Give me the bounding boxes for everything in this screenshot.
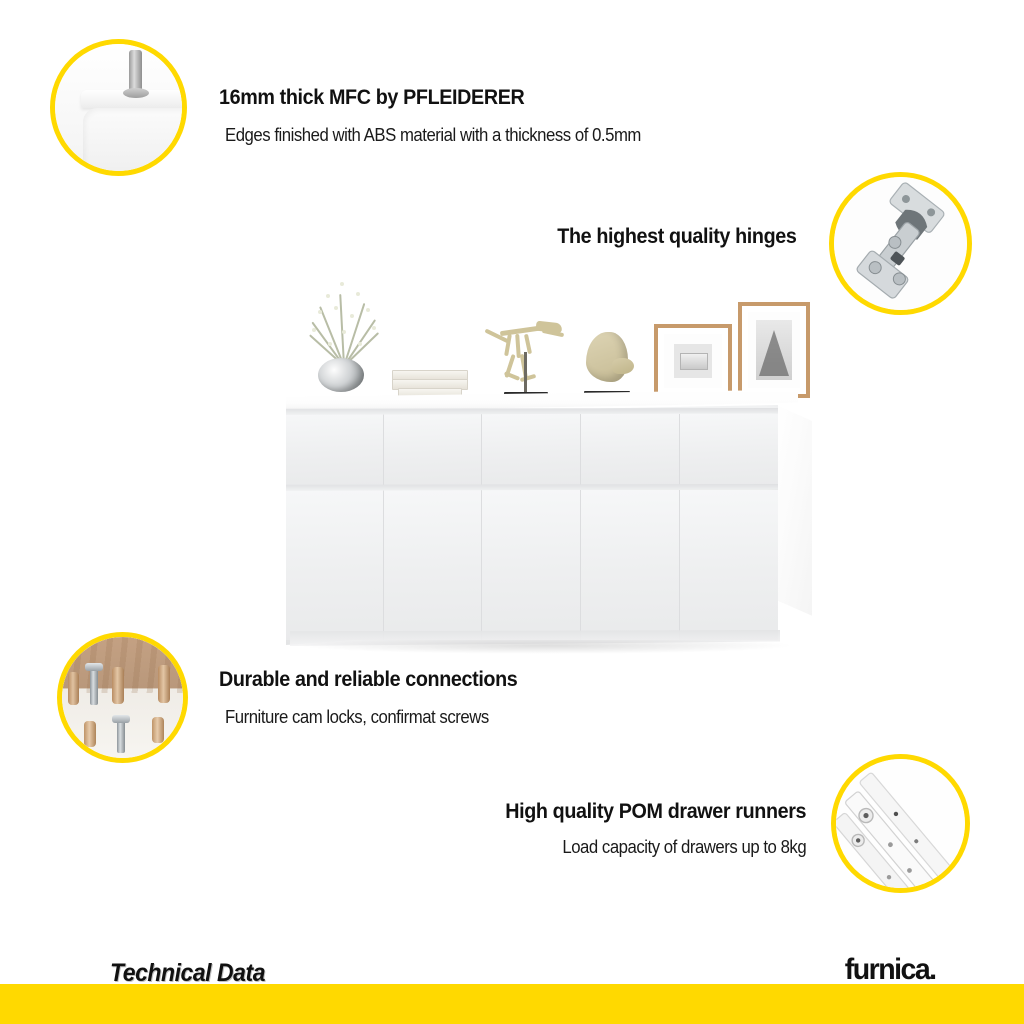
- callout-heading: 16mm thick MFC by PFLEIDERER: [219, 86, 783, 110]
- footer-label: Technical Data: [110, 959, 265, 988]
- floor-shadow: [296, 640, 796, 654]
- drawer-front[interactable]: [482, 414, 581, 486]
- callout-heading: The highest quality hinges: [557, 225, 796, 249]
- callout-subheading: Load capacity of drawers up to 8kg: [562, 836, 806, 858]
- cam-lock-dowel-photo: [62, 637, 183, 758]
- callout-image-hinges: [829, 172, 972, 315]
- glass-vase: [318, 358, 364, 392]
- hinge-glyph: [834, 177, 967, 310]
- drawer-edge-photo: [55, 44, 182, 171]
- drawer-front[interactable]: [286, 414, 384, 486]
- dinosaur-skeleton-sculpture: [482, 314, 568, 398]
- cabinet-hinge-photo: [834, 177, 967, 310]
- picture-frame-building: [654, 324, 732, 398]
- cabinet-door[interactable]: [680, 490, 778, 640]
- picture-frame-eiffel-tower: [738, 302, 810, 398]
- cabinet-door[interactable]: [581, 490, 680, 640]
- callout-image-mfc-board: [50, 39, 187, 176]
- callout-text-mfc-board: 16mm thick MFC by PFLEIDERER Edges finis…: [219, 86, 819, 146]
- callout-subheading: Edges finished with ABS material with a …: [225, 124, 777, 146]
- horse-head-sculpture: [582, 332, 634, 398]
- footer-bar: [0, 984, 1024, 1024]
- drawer-front[interactable]: [680, 414, 778, 486]
- cabinet-door[interactable]: [286, 490, 384, 640]
- sideboard-right-side: [775, 400, 812, 632]
- callout-heading: Durable and reliable connections: [219, 668, 783, 692]
- drawer-row: [286, 414, 778, 486]
- cabinet-door[interactable]: [482, 490, 581, 640]
- callout-text-connections: Durable and reliable connections Furnitu…: [219, 668, 819, 728]
- plant-branches: [310, 280, 376, 366]
- drawer-front[interactable]: [581, 414, 680, 486]
- door-row: [286, 490, 778, 640]
- callout-heading: High quality POM drawer runners: [505, 800, 806, 824]
- drawer-front[interactable]: [384, 414, 482, 486]
- runner-glyph: [836, 759, 965, 888]
- callout-text-drawer-runners: High quality POM drawer runners Load cap…: [316, 800, 806, 858]
- product-image-sideboard: [286, 262, 826, 662]
- callout-image-drawer-runners: [831, 754, 970, 893]
- technical-data-infographic: 16mm thick MFC by PFLEIDERER Edges finis…: [0, 0, 1024, 1024]
- brand-logo: furnica.: [845, 953, 936, 987]
- decor-group: [286, 262, 826, 412]
- stacked-books: [392, 370, 466, 396]
- drawer-runner-photo: [836, 759, 965, 888]
- callout-subheading: Furniture cam locks, confirmat screws: [225, 706, 777, 728]
- callout-image-connections: [57, 632, 188, 763]
- cabinet-door[interactable]: [384, 490, 482, 640]
